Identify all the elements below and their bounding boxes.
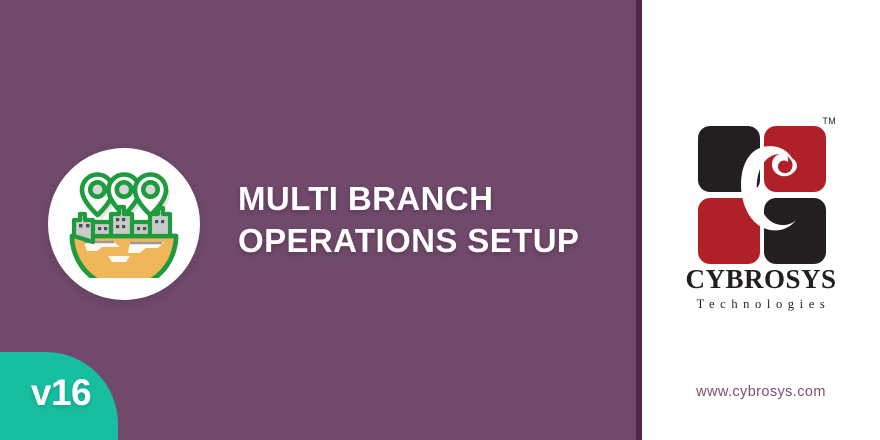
website-url[interactable]: www.cybrosys.com — [642, 384, 880, 400]
version-label: v16 — [27, 372, 91, 420]
building-2 — [93, 222, 111, 236]
building-5 — [150, 208, 170, 236]
cybrosys-logo: TM — [684, 112, 838, 270]
multi-branch-globe-icon — [68, 170, 180, 278]
building-4 — [132, 222, 150, 236]
banner-root: MULTI BRANCH OPERATIONS SETUP v16 TM — [0, 0, 880, 440]
building-1 — [74, 214, 93, 242]
banner-title: MULTI BRANCH OPERATIONS SETUP — [238, 178, 623, 262]
title-line-2: OPERATIONS SETUP — [238, 220, 623, 262]
right-white-panel: TM CYBROSYS Technologies www.cybrosys.co… — [642, 0, 880, 440]
brand-subtitle: Technologies — [642, 297, 880, 312]
brand-block: TM CYBROSYS Technologies — [642, 112, 880, 312]
cybrosys-logo-mark — [696, 124, 826, 266]
icon-circle-badge — [48, 148, 200, 300]
brand-name: CYBROSYS — [642, 266, 880, 293]
logo-tile-bottom-right — [764, 198, 826, 264]
title-line-1: MULTI BRANCH — [238, 178, 623, 220]
logo-tile-top-right — [764, 126, 826, 192]
left-purple-panel: MULTI BRANCH OPERATIONS SETUP v16 — [0, 0, 636, 440]
